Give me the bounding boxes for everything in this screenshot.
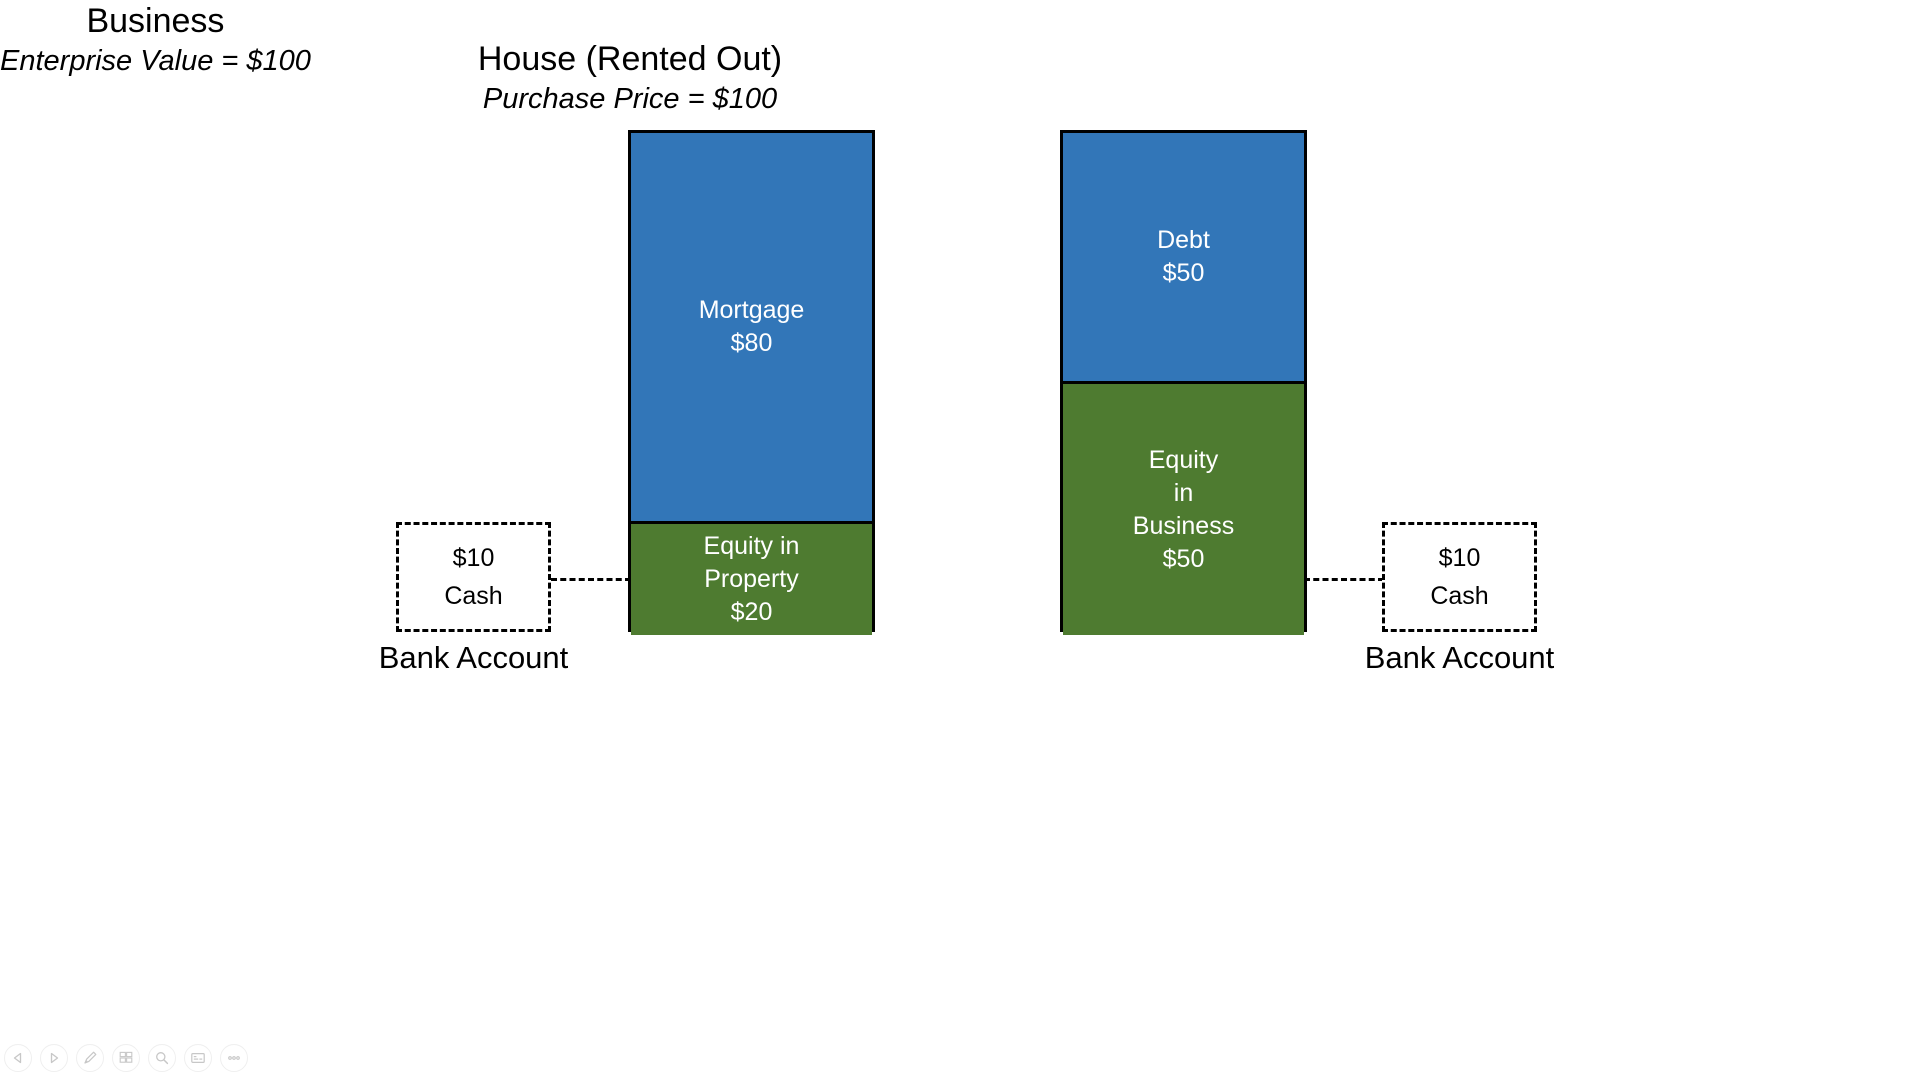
bar-segment-debt: Debt $50: [1063, 133, 1304, 381]
bar-segment-label: Debt: [1157, 224, 1210, 257]
bank-account-box-house: $10 Cash: [396, 522, 551, 632]
magnifier-icon: [154, 1050, 170, 1066]
bar-segment-label-line3: Business: [1133, 510, 1234, 543]
bank-account-caption-business: Bank Account: [1342, 639, 1577, 677]
bar-segment-label-line2: in: [1174, 477, 1193, 510]
stacked-bar-house: Mortgage $80 Equity in Property $20: [628, 130, 875, 632]
connector-house-bank: [551, 578, 631, 581]
cash-amount: $10: [1439, 539, 1481, 577]
bank-account-box-business: $10 Cash: [1382, 522, 1537, 632]
previous-icon: [11, 1051, 25, 1065]
all-slides-button[interactable]: [112, 1044, 140, 1072]
captions-icon: [190, 1050, 206, 1066]
bar-segment-amount: $50: [1163, 543, 1205, 576]
column-title-house: House (Rented Out) Purchase Price = $100: [470, 38, 790, 118]
zoom-in-button[interactable]: [148, 1044, 176, 1072]
pen-tool-button[interactable]: [76, 1044, 104, 1072]
cash-item: Cash: [1430, 577, 1488, 615]
bar-segment-label-line2: Property: [704, 563, 798, 596]
column-title-main: House (Rented Out): [470, 38, 790, 80]
bar-segment-equity-in-property: Equity in Property $20: [631, 521, 872, 635]
bar-segment-label: Mortgage: [699, 294, 805, 327]
more-options-icon: [226, 1050, 242, 1066]
connector-business-bank: [1304, 578, 1384, 581]
slides-grid-icon: [118, 1050, 134, 1066]
bar-segment-equity-in-business: Equity in Business $50: [1063, 381, 1304, 635]
bar-segment-amount: $20: [731, 596, 773, 629]
stacked-bar-business: Debt $50 Equity in Business $50: [1060, 130, 1307, 632]
presenter-toolbar: [4, 1044, 248, 1072]
bar-segment-label-line1: Equity in: [704, 530, 800, 563]
column-subtitle: Purchase Price = $100: [470, 80, 790, 118]
bar-segment-amount: $80: [731, 327, 773, 360]
cash-amount: $10: [453, 539, 495, 577]
pen-icon: [82, 1050, 98, 1066]
bank-account-caption-house: Bank Account: [356, 639, 591, 677]
bar-segment-amount: $50: [1163, 257, 1205, 290]
bar-segment-mortgage: Mortgage $80: [631, 133, 872, 521]
more-options-button[interactable]: [220, 1044, 248, 1072]
column-title-main: Business: [0, 0, 311, 42]
column-title-business: Business Enterprise Value = $100: [0, 0, 311, 80]
captions-button[interactable]: [184, 1044, 212, 1072]
next-icon: [47, 1051, 61, 1065]
next-slide-button[interactable]: [40, 1044, 68, 1072]
slide-canvas: House (Rented Out) Purchase Price = $100…: [0, 0, 1920, 1080]
column-subtitle: Enterprise Value = $100: [0, 42, 311, 80]
bar-segment-label-line1: Equity: [1149, 444, 1218, 477]
previous-slide-button[interactable]: [4, 1044, 32, 1072]
cash-item: Cash: [444, 577, 502, 615]
